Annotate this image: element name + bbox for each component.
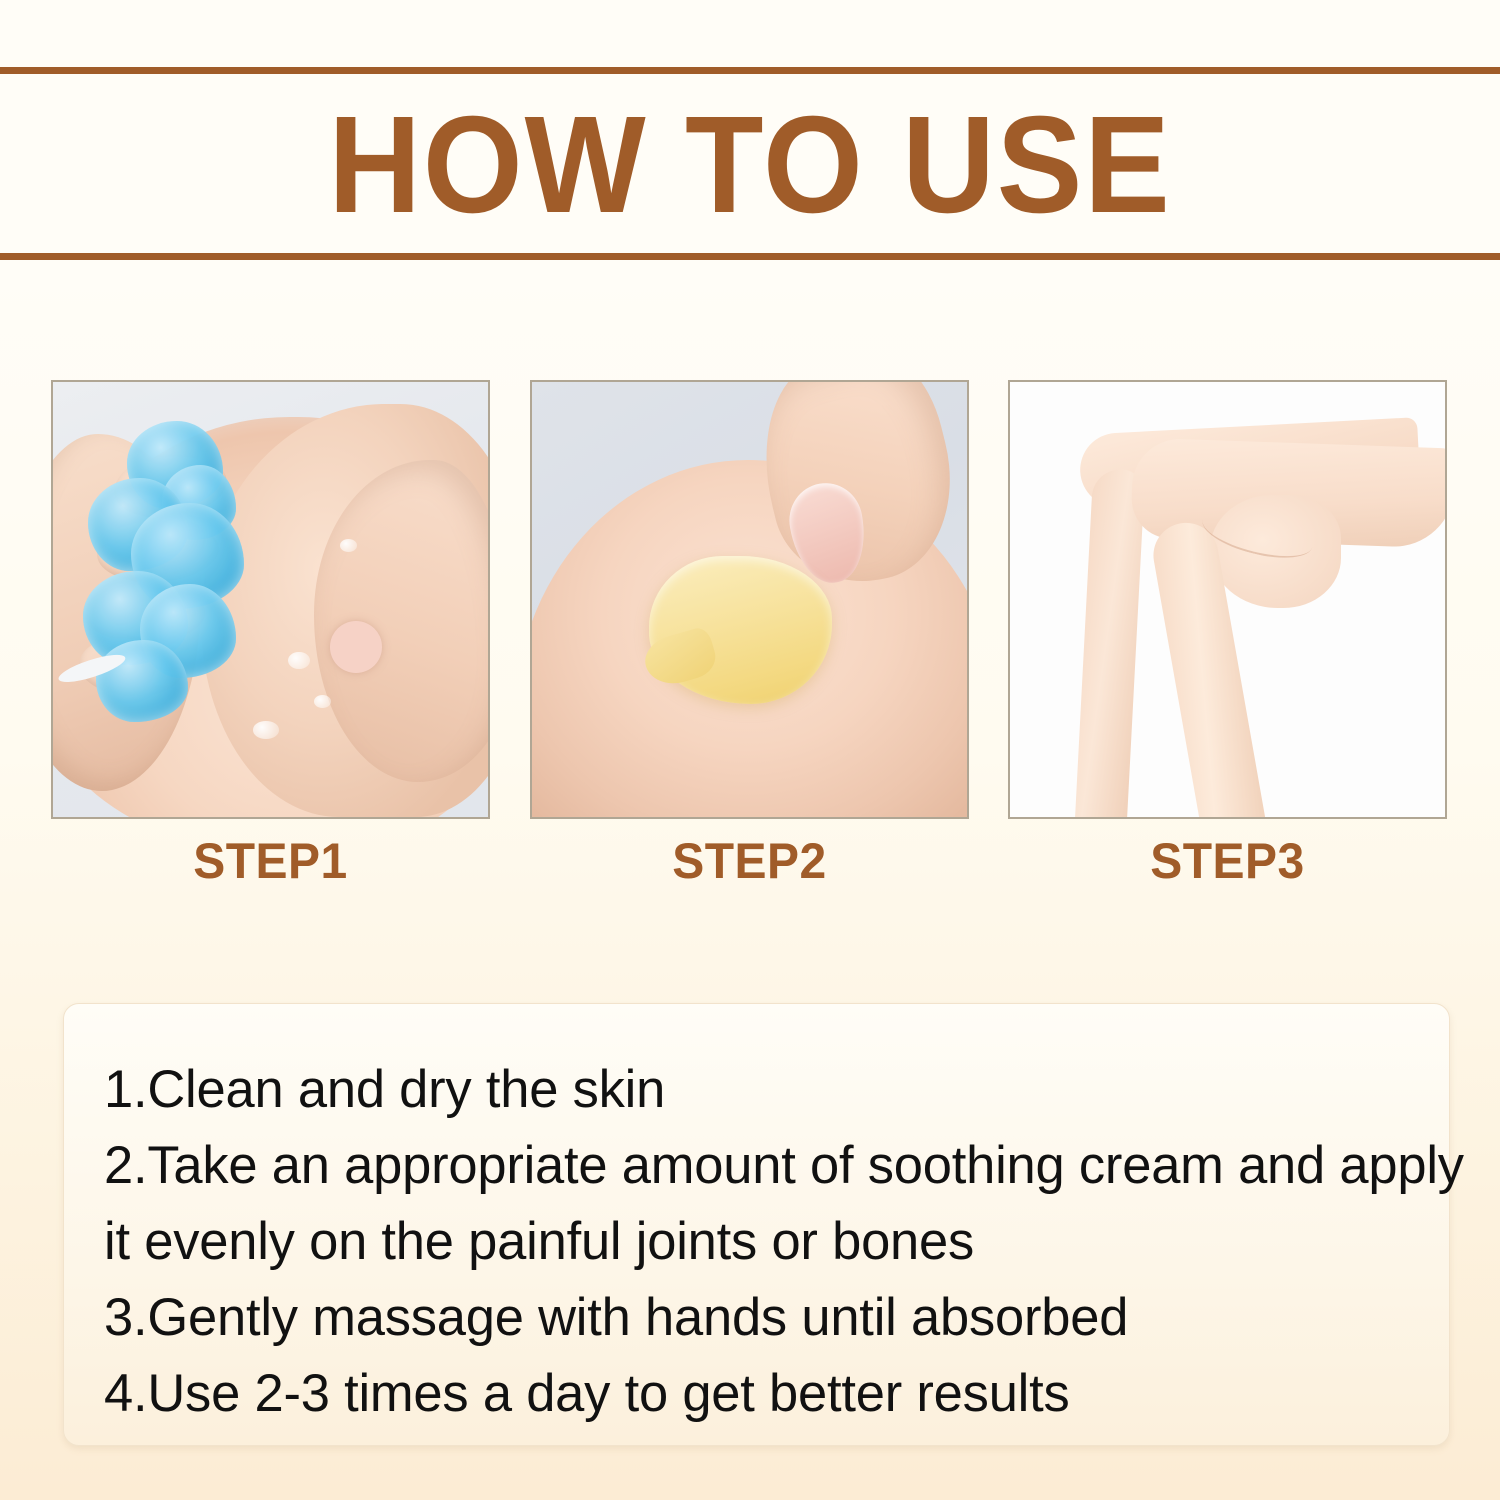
step3-photo-smooth-legs [1008,380,1447,819]
step-caption-3: STEP3 [1017,833,1438,893]
step2-photo-cream-application [530,380,969,819]
instruction-line-1: 1.Clean and dry the skin [104,1052,1410,1128]
header-rule-bottom [0,253,1500,260]
step-caption-2: STEP2 [538,833,959,893]
instruction-line-2: 2.Take an appropriate amount of soothing… [104,1128,1410,1204]
step-caption-1: STEP1 [60,833,481,893]
soap-sud [340,539,357,552]
instruction-line-3: it evenly on the painful joints or bones [104,1204,1410,1280]
soap-sud [288,652,310,669]
blue-loofah-sponge [66,421,284,734]
instruction-line-5: 4.Use 2-3 times a day to get better resu… [104,1356,1410,1432]
thumb-nail-shape [330,621,382,673]
header-band: HOW TO USE [0,0,1500,300]
instruction-line-4: 3.Gently massage with hands until absorb… [104,1280,1410,1356]
loofah-petal [96,640,187,721]
header-rule-top [0,67,1500,74]
step-captions-row: STEP1 STEP2 STEP3 [51,833,1447,893]
page-title: HOW TO USE [53,96,1448,234]
soap-sud [253,721,279,738]
step-photos-row [51,380,1447,820]
step1-photo-loofah-wash [51,380,490,819]
back-shin-shape [1075,468,1146,819]
instructions-panel: 1.Clean and dry the skin 2.Take an appro… [63,1003,1450,1446]
